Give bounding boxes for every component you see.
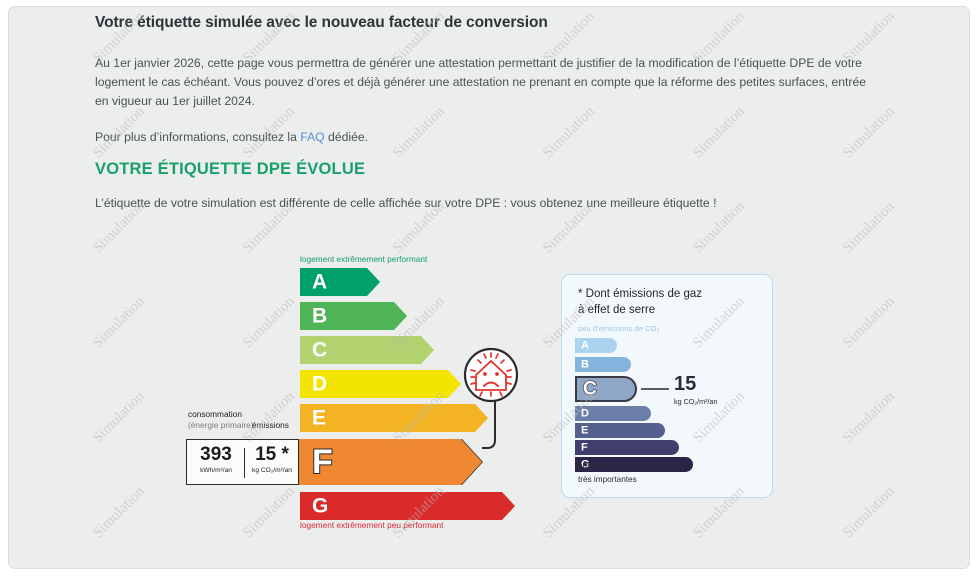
ges-bar-b-letter: B [581, 359, 589, 370]
energy-bar-f-row: 393 kWh/m²/an 15 * kg CO₂/m²/an F [186, 439, 482, 485]
ges-bottom-caption: émissions de CO₂ très importantes [578, 459, 644, 487]
emissions-unit: kg CO₂/m²/an [245, 467, 299, 474]
page-title: Votre étiquette simulée avec le nouveau … [95, 14, 885, 32]
ges-bar-c-selected: C [575, 376, 637, 402]
section-heading: VOTRE ÉTIQUETTE DPE ÉVOLUE [95, 160, 365, 179]
consumption-label-sub: (énergie primaire) [188, 420, 253, 431]
faq-link[interactable]: FAQ [300, 130, 324, 144]
energy-bar-e: E [300, 404, 488, 432]
intro-paragraph: Au 1er janvier 2026, cette page vous per… [95, 54, 877, 111]
ges-title: * Dont émissions de gaz à effet de serre [578, 286, 702, 318]
consumption-label-main: consommation [188, 409, 253, 420]
ges-title-line-2: à effet de serre [578, 302, 702, 318]
ges-bar-a: A [575, 338, 617, 353]
ges-bar-e-letter: E [581, 425, 588, 436]
energy-bar-b-letter: B [312, 306, 327, 327]
energy-bar-a: A [300, 268, 380, 296]
value-box: 393 kWh/m²/an 15 * kg CO₂/m²/an [186, 439, 300, 485]
energy-bar-d: D [300, 370, 461, 398]
ges-unit: kg CO₂/m²/an [674, 397, 718, 406]
ges-bar-e: E [575, 423, 665, 438]
consumption-value: 393 [189, 445, 243, 464]
ges-bottom-caption-line-2: très importantes [578, 473, 644, 487]
faq-text-after: dédiée. [325, 130, 368, 144]
emissions-label: émissions [252, 420, 289, 430]
chart-caption-top: logement extrêmement performant [300, 254, 427, 264]
energy-bar-g-shape [300, 492, 515, 520]
ges-bar-f: F [575, 440, 679, 455]
faq-text-before: Pour plus d’informations, consultez la [95, 130, 300, 144]
energy-bar-g-letter: G [312, 496, 328, 517]
energy-bar-b: B [300, 302, 407, 330]
energy-bar-g: G [300, 492, 515, 520]
energy-bar-c-letter: C [312, 340, 327, 361]
consumption-value-cell: 393 kWh/m²/an [189, 445, 243, 474]
energy-bar-d-letter: D [312, 374, 327, 395]
ges-bottom-caption-line-1: émissions de CO₂ [578, 459, 644, 473]
ges-top-caption: peu d’émissions de CO₂ [578, 324, 659, 333]
ges-panel: * Dont émissions de gaz à effet de serre… [561, 274, 773, 498]
ges-bar-a-letter: A [581, 340, 589, 351]
ges-title-line-1: * Dont émissions de gaz [578, 286, 702, 302]
energy-bar-f-letter: F [312, 445, 333, 479]
energy-bar-e-letter: E [312, 408, 326, 429]
energy-bar-a-letter: A [312, 272, 327, 293]
ges-bar-d: D [575, 406, 651, 421]
energy-bar-c: C [300, 336, 434, 364]
energy-bar-e-shape [300, 404, 488, 432]
chart-caption-bottom: logement extrêmement peu performant [300, 520, 443, 530]
ges-bar-b: B [575, 357, 631, 372]
emissions-value-cell: 15 * kg CO₂/m²/an [245, 445, 299, 474]
intro-content: Votre étiquette simulée avec le nouveau … [95, 14, 885, 147]
ges-value: 15 [674, 374, 718, 394]
dpe-figure: logement extrêmement performant logement… [0, 236, 980, 536]
ges-bar-c-letter: C [583, 380, 597, 399]
ges-value-group: 15 kg CO₂/m²/an [674, 374, 718, 406]
faq-paragraph: Pour plus d’informations, consultez la F… [95, 128, 877, 147]
ges-bar-d-letter: D [581, 408, 589, 419]
sad-house-icon [462, 346, 520, 404]
ges-leader-line [641, 388, 669, 390]
consumption-label: consommation (énergie primaire) [188, 409, 253, 431]
section-subtext: L’étiquette de votre simulation est diff… [95, 196, 716, 210]
energy-label-chart: logement extrêmement performant logement… [186, 254, 496, 534]
ges-bar-f-letter: F [581, 442, 588, 453]
emissions-value: 15 * [245, 445, 299, 464]
consumption-unit: kWh/m²/an [189, 467, 243, 474]
